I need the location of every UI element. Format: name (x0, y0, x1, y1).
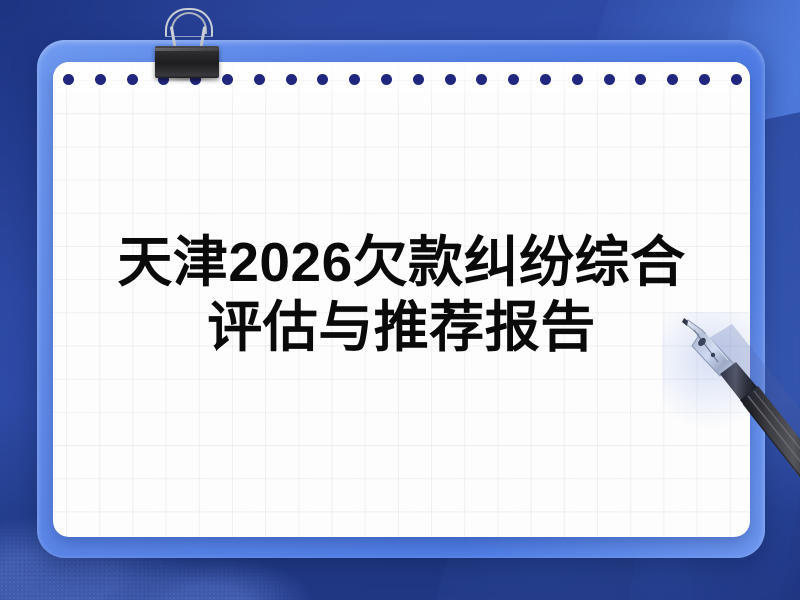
punch-dot (635, 74, 646, 85)
binder-clip-shadow (157, 76, 217, 82)
punch-dot (381, 74, 392, 85)
binder-clip-icon (152, 8, 222, 86)
title-line-2: 评估与推荐报告 (79, 295, 724, 360)
punch-dot (286, 74, 297, 85)
punch-dot (508, 74, 519, 85)
punch-dot (222, 74, 233, 85)
punch-dot (604, 74, 615, 85)
punch-dot (445, 74, 456, 85)
punch-dot (572, 74, 583, 85)
punch-dot (349, 74, 360, 85)
poster-canvas: 天津2026欠款纠纷综合 评估与推荐报告 (0, 0, 800, 600)
punch-dot (63, 74, 74, 85)
title-line-1: 天津2026欠款纠纷综合 (79, 230, 724, 295)
note-paper: 天津2026欠款纠纷综合 评估与推荐报告 (53, 62, 750, 537)
punch-dot (413, 74, 424, 85)
binder-clip-body (155, 46, 219, 78)
punch-dot (254, 74, 265, 85)
punch-dot (127, 74, 138, 85)
punch-dot (699, 74, 710, 85)
page-title: 天津2026欠款纠纷综合 评估与推荐报告 (53, 230, 750, 360)
punch-dot (95, 74, 106, 85)
punch-dot (667, 74, 678, 85)
punch-dot (317, 74, 328, 85)
punch-dot (540, 74, 551, 85)
punch-dot (476, 74, 487, 85)
punch-dot (731, 74, 742, 85)
